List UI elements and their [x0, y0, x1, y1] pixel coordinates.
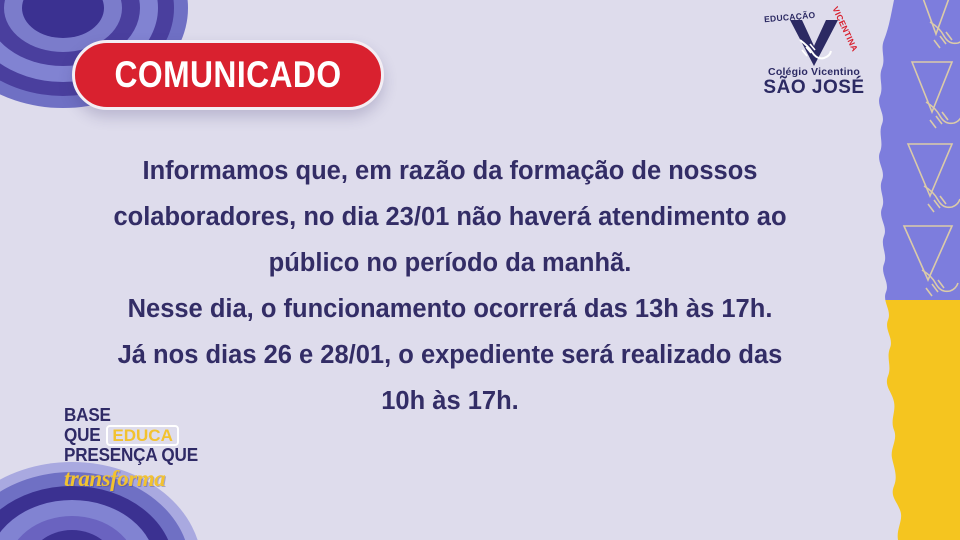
slogan-line-que-educa: QUE EDUCA: [64, 425, 224, 446]
school-logo: EDUCAÇÃO VICENTINA Colégio Vicentino SÃO…: [760, 8, 868, 112]
slogan-line-base: BASE: [64, 406, 216, 425]
slogan-educa-highlight: EDUCA: [106, 425, 178, 446]
message-block: Informamos que, em razão da formação de …: [60, 148, 840, 424]
comunicado-banner: COMUNICADO: [72, 40, 384, 110]
slogan-que-text: QUE: [64, 426, 100, 445]
vicentina-v-handshake-icon: EDUCAÇÃO VICENTINA: [760, 8, 868, 68]
slogan-transforma-script: transforma: [64, 466, 224, 491]
comunicado-poster: COMUNICADO EDUCAÇÃO VICENTINA Colégio Vi…: [0, 0, 960, 540]
message-line-3: público no período da manhã.: [60, 240, 840, 286]
message-line-2: colaboradores, no dia 23/01 não haverá a…: [60, 194, 840, 240]
message-line-5: Já nos dias 26 e 28/01, o expediente ser…: [60, 332, 840, 378]
comunicado-label: COMUNICADO: [114, 54, 341, 96]
message-line-4: Nesse dia, o funcionamento ocorrerá das …: [60, 286, 840, 332]
slogan-lockup: BASE QUE EDUCA PRESENÇA QUE transforma: [64, 406, 224, 491]
message-line-1: Informamos que, em razão da formação de …: [60, 148, 840, 194]
logo-school-name: SÃO JOSÉ: [760, 78, 868, 98]
slogan-line-presenca-que: PRESENÇA QUE: [64, 446, 216, 465]
